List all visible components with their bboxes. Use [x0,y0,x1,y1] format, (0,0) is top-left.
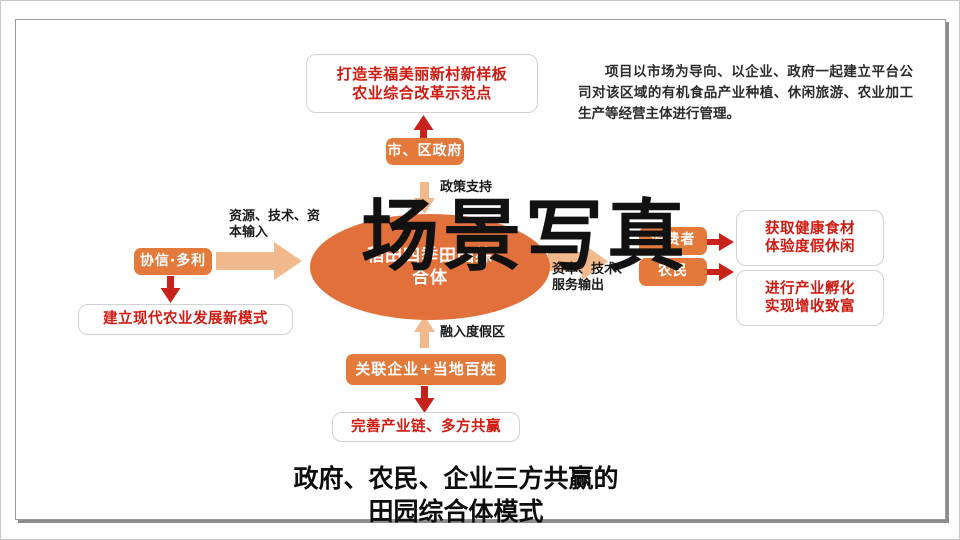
ellipse-line1: 稻田四季田园综 [367,245,493,267]
government-label: 市、区政府 [388,143,463,161]
slide-page: 打造幸福美丽新村新样板 农业综合改革示范点 项目以市场为导向、以企业、政府一起建… [0,0,960,540]
capital-output-label: 资本、技术、 服务输出 [552,262,642,295]
consumer-outcome-line2: 体验度假休闲 [765,238,855,256]
capital-output-line1: 资本、技术、 [552,262,630,277]
policy-support-label: 政策支持 [440,180,492,196]
partners-outcome-box[interactable]: 完善产业链、多方共赢 [332,412,520,442]
join-resort-label: 融入度假区 [440,325,505,341]
caption-line1: 政府、农民、企业三方共赢的 [196,462,716,495]
government-box[interactable]: 市、区政府 [386,138,464,165]
farmer-outcome-line1: 进行产业孵化 [765,280,855,298]
capital-output-line2: 服务输出 [552,278,604,293]
consumer-outcome-line1: 获取健康食材 [765,220,855,238]
resource-input-label: 资源、技术、资 本输入 [229,209,334,242]
consumer-label: 消费者 [651,232,696,250]
center-ellipse[interactable]: 稻田四季田园综 合体 [310,214,550,320]
caption-line2: 田园综合体模式 [196,495,716,528]
farmer-label: 农民 [658,263,688,281]
arrow-consumer-to-outcome [704,233,734,251]
company-label: 协信·多利 [140,253,206,271]
arrow-policy-support [414,182,435,214]
farmer-box[interactable]: 农民 [639,258,707,286]
arrow-company-to-outcome [161,276,181,303]
arrow-resource-input [216,242,302,280]
farmer-outcome-box[interactable]: 进行产业孵化 实现增收致富 [736,270,884,326]
arrow-farmer-to-outcome [704,263,734,281]
diagram-canvas: 打造幸福美丽新村新样板 农业综合改革示范点 项目以市场为导向、以企业、政府一起建… [16,20,947,521]
company-outcome-box[interactable]: 建立现代农业发展新模式 [78,304,293,335]
company-outcome-label: 建立现代农业发展新模式 [103,310,268,328]
resource-input-line2: 本输入 [229,225,268,240]
partners-outcome-label: 完善产业链、多方共赢 [351,418,501,436]
ellipse-line2: 合体 [412,267,448,289]
slide-frame: 打造幸福美丽新村新样板 农业综合改革示范点 项目以市场为导向、以企业、政府一起建… [15,19,946,520]
goal-box[interactable]: 打造幸福美丽新村新样板 农业综合改革示范点 [306,54,538,113]
slide-caption: 政府、农民、企业三方共赢的 田园综合体模式 [196,462,716,528]
arrow-join-resort [414,316,435,348]
intro-paragraph: 项目以市场为导向、以企业、政府一起建立平台公司对该区域的有机食品产业种植、休闲旅… [578,62,913,125]
partners-box[interactable]: 关联企业+当地百姓 [346,354,506,385]
goal-box-line1: 打造幸福美丽新村新样板 [337,65,508,84]
consumer-box[interactable]: 消费者 [639,227,707,255]
farmer-outcome-line2: 实现增收致富 [765,298,855,316]
goal-box-line2: 农业综合改革示范点 [352,84,492,103]
consumer-outcome-box[interactable]: 获取健康食材 体验度假休闲 [736,210,884,266]
company-box[interactable]: 协信·多利 [134,248,212,275]
arrow-partners-to-outcome [415,386,435,413]
partners-label: 关联企业+当地百姓 [355,360,497,379]
resource-input-line1: 资源、技术、资 [229,209,320,224]
